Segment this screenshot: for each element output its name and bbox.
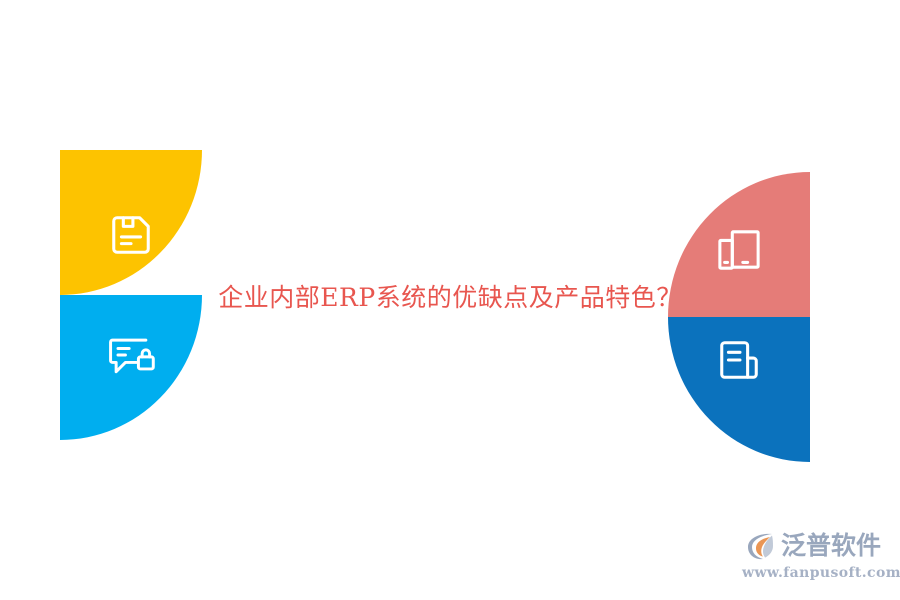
page-title: 企业内部ERP系统的优缺点及产品特色？ [0, 282, 900, 314]
watermark-brand: 泛普软件 [781, 528, 881, 564]
page-canvas: 企业内部ERP系统的优缺点及产品特色？ 泛普软件 www.fanpusoft.c… [0, 0, 900, 600]
devices-icon [668, 215, 810, 285]
fanpu-leaf-logo-icon [742, 528, 778, 564]
watermark: 泛普软件 www.fanpusoft.com [742, 526, 882, 588]
save-document-icon [60, 200, 202, 270]
watermark-row: 泛普软件 [742, 526, 882, 566]
watermark-url: www.fanpusoft.com [742, 564, 882, 582]
document-book-icon [668, 325, 810, 395]
secure-chat-icon [60, 320, 202, 390]
